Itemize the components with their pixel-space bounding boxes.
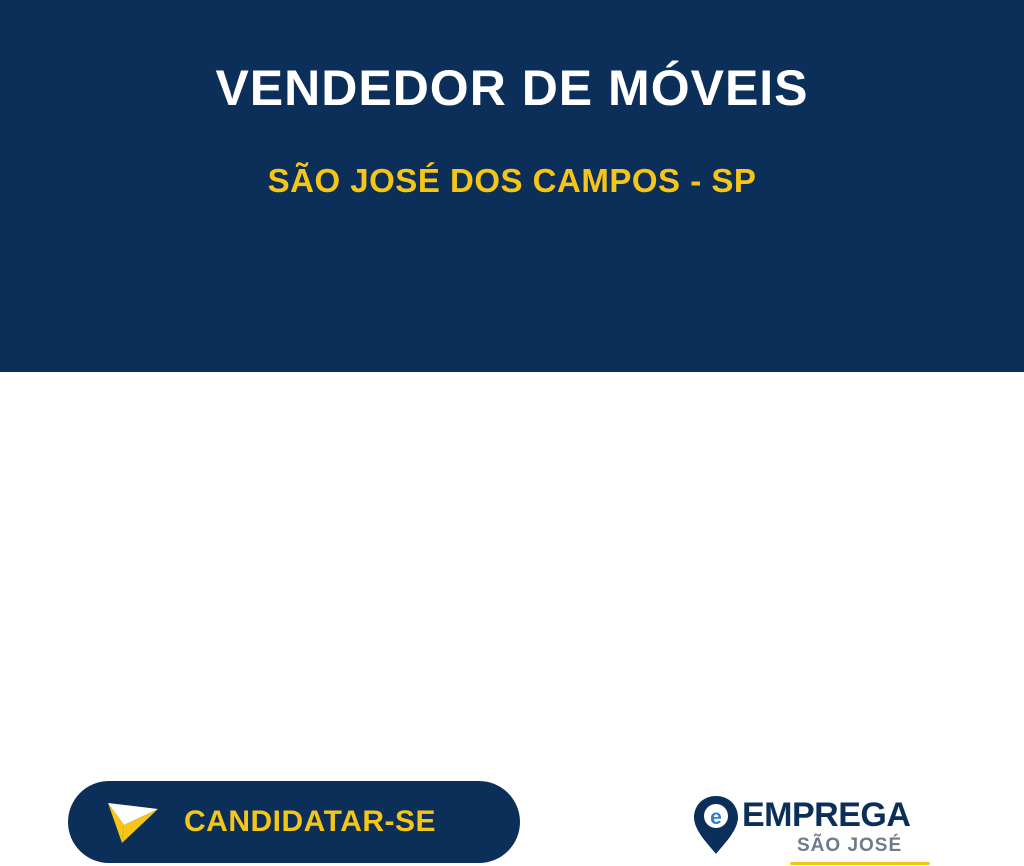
job-location: SÃO JOSÉ DOS CAMPOS - SP	[0, 162, 1024, 200]
job-title: VENDEDOR DE MÓVEIS	[0, 60, 1024, 118]
footer-section: CANDIDATAR-SE e EMPREGA SÃO JOSÉ	[0, 372, 1024, 538]
brand-name: EMPREGA	[742, 796, 910, 835]
apply-button[interactable]: CANDIDATAR-SE	[68, 781, 520, 863]
brand-underline	[790, 862, 930, 865]
svg-text:e: e	[710, 806, 722, 829]
brand-subname: SÃO JOSÉ	[797, 835, 902, 857]
job-vacancy-banner: VENDEDOR DE MÓVEIS SÃO JOSÉ DOS CAMPOS -…	[0, 0, 1024, 538]
hero-section: VENDEDOR DE MÓVEIS SÃO JOSÉ DOS CAMPOS -…	[0, 0, 1024, 372]
paper-plane-icon	[104, 793, 162, 851]
apply-button-label: CANDIDATAR-SE	[184, 805, 436, 839]
brand-logo: e EMPREGA SÃO JOSÉ	[692, 788, 932, 866]
map-pin-icon: e	[692, 794, 740, 856]
